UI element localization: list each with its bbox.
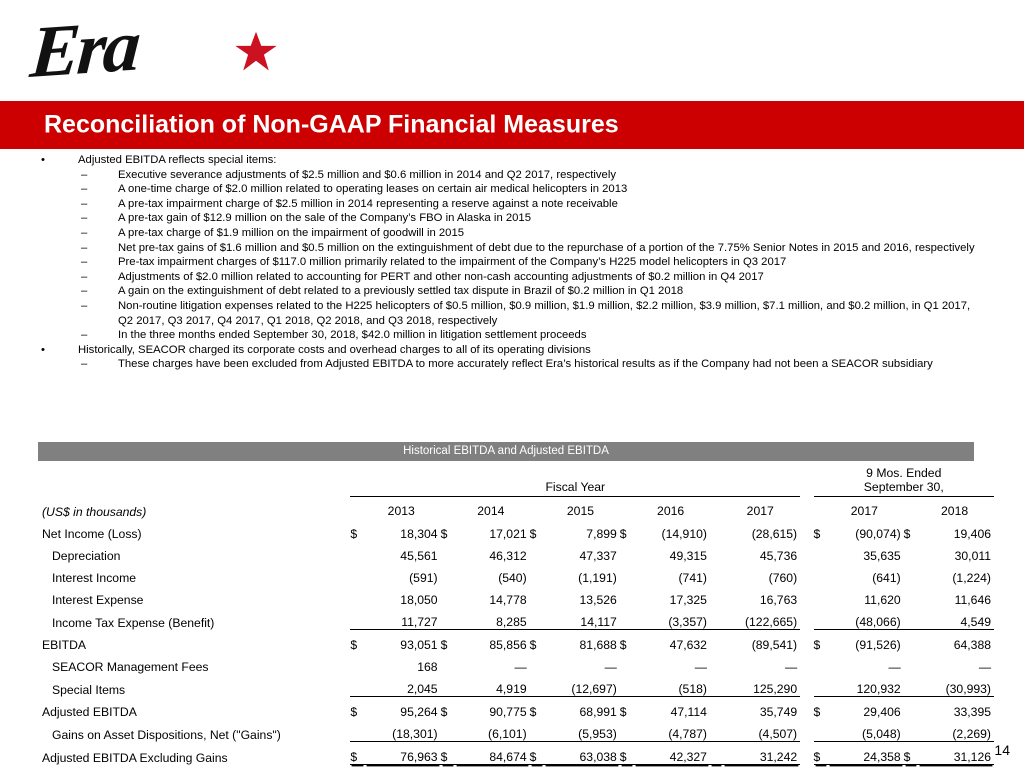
currency-symbol [814,541,828,563]
currency-symbol [620,674,634,697]
bullet-text: Adjusted EBITDA reflects special items: [78,153,988,168]
logo-wordmark: Era [28,9,140,90]
cell-value: 35,749 [723,697,800,720]
table-row: SEACOR Management Fees168—————— [38,652,994,674]
cell-value: 30,011 [918,541,994,563]
table-row: Interest Income(591)(540)(1,191)(741)(76… [38,563,994,585]
currency-symbol [710,697,723,720]
cell-value: (14,910) [634,519,710,541]
bullet-item: –A pre-tax charge of $1.9 million on the… [0,226,1024,241]
bullet-item: –In the three months ended September 30,… [0,328,1024,343]
cell-value: 4,549 [918,607,994,630]
table-row: EBITDA$93,051$85,856$81,688$47,632(89,54… [38,630,994,653]
cell-value: 125,290 [723,674,800,697]
cell-value: (28,615) [723,519,800,541]
currency-symbol [620,585,634,607]
bullet-text: These charges have been excluded from Ad… [118,357,988,372]
cell-value: (12,697) [544,674,620,697]
cell-value: (540) [455,563,530,585]
currency-symbol [814,563,828,585]
bullet-item: –A one-time charge of $2.0 million relat… [0,182,1024,197]
currency-symbol [710,742,723,765]
bullet-item: –A pre-tax gain of $12.9 million on the … [0,211,1024,226]
bullet-marker: – [81,284,101,299]
cell-value: 168 [365,652,441,674]
currency-symbol [904,563,918,585]
cell-value: 11,620 [828,585,904,607]
currency-symbol: $ [441,519,455,541]
currency-symbol: $ [814,697,828,720]
column-gap [800,519,813,541]
cell-value: (1,191) [544,563,620,585]
currency-symbol [350,719,364,742]
currency-symbol: $ [350,630,364,653]
bullet-text: Net pre-tax gains of $1.6 million and $0… [118,241,988,256]
currency-head-nine-2017 [814,497,828,520]
year-header-2015: 2015 [544,497,620,520]
cell-value: 49,315 [634,541,710,563]
currency-symbol: $ [350,697,364,720]
page-number: 14 [994,742,1010,758]
currency-symbol [904,585,918,607]
column-gap [800,585,813,607]
year-header-nine-2017: 2017 [828,497,904,520]
currency-symbol [350,541,364,563]
row-label: Special Items [38,674,350,697]
cell-value: (4,787) [634,719,710,742]
bullet-text: In the three months ended September 30, … [118,328,988,343]
currency-symbol [710,652,723,674]
currency-symbol [620,607,634,630]
column-gap [800,630,813,653]
row-label: EBITDA [38,630,350,653]
nine-months-line2: September 30, [864,480,944,494]
table-row: Gains on Asset Dispositions, Net ("Gains… [38,719,994,742]
currency-symbol [441,719,455,742]
currency-symbol: $ [530,742,544,765]
currency-symbol [710,585,723,607]
currency-symbol [530,652,544,674]
currency-symbol [710,519,723,541]
currency-symbol: $ [814,519,828,541]
bullet-item: –Adjustments of $2.0 million related to … [0,270,1024,285]
table-row: Income Tax Expense (Benefit)11,7278,2851… [38,607,994,630]
currency-head-2017 [710,497,723,520]
cell-value: (1,224) [918,563,994,585]
year-header-2014: 2014 [455,497,530,520]
cell-value: (6,101) [455,719,530,742]
currency-head-2013 [350,497,364,520]
currency-symbol: $ [620,519,634,541]
cell-value: (89,541) [723,630,800,653]
currency-symbol [814,652,828,674]
currency-symbol [441,607,455,630]
currency-symbol: $ [620,742,634,765]
cell-value: 47,337 [544,541,620,563]
bullet-text: Non-routine litigation expenses related … [118,299,988,328]
cell-value: (2,269) [918,719,994,742]
bullet-text: A one-time charge of $2.0 million relate… [118,182,988,197]
cell-value: (91,526) [828,630,904,653]
cell-value: (518) [634,674,710,697]
bullet-item: –A pre-tax impairment charge of $2.5 mil… [0,197,1024,212]
column-gap [800,742,813,765]
bullet-item: –Executive severance adjustments of $2.5… [0,168,1024,183]
page-title: Reconciliation of Non-GAAP Financial Mea… [44,111,619,140]
row-label: Income Tax Expense (Benefit) [38,607,350,630]
currency-symbol [710,563,723,585]
bullet-marker: – [81,357,101,372]
bullet-marker: • [41,153,61,168]
cell-value: 29,406 [828,697,904,720]
cell-value: 47,632 [634,630,710,653]
column-gap [800,541,813,563]
bullet-text: Pre-tax impairment charges of $117.0 mil… [118,255,988,270]
cell-value: — [455,652,530,674]
currency-symbol [441,652,455,674]
group-header-fiscal-year: Fiscal Year [350,466,800,497]
table-row: Interest Expense18,05014,77813,52617,325… [38,585,994,607]
currency-symbol [350,607,364,630]
table-body: Net Income (Loss)$18,304$17,021$7,899$(1… [38,519,994,765]
cell-value: — [544,652,620,674]
cell-value: 68,991 [544,697,620,720]
cell-value: 19,406 [918,519,994,541]
currency-symbol: $ [530,697,544,720]
row-label: Adjusted EBITDA Excluding Gains [38,742,350,765]
cell-value: 64,388 [918,630,994,653]
currency-head-2014 [441,497,455,520]
column-gap [800,719,813,742]
cell-value: (90,074) [828,519,904,541]
row-label: Net Income (Loss) [38,519,350,541]
cell-value: (48,066) [828,607,904,630]
currency-symbol: $ [350,519,364,541]
currency-symbol [904,607,918,630]
bullet-item: –Net pre-tax gains of $1.6 million and $… [0,241,1024,256]
cell-value: 17,021 [455,519,530,541]
currency-symbol: $ [441,742,455,765]
bullet-marker: – [81,168,101,183]
cell-value: 63,038 [544,742,620,765]
currency-symbol: $ [530,630,544,653]
era-logo: Era [28,14,288,98]
cell-value: 14,778 [455,585,530,607]
currency-symbol [710,541,723,563]
currency-symbol [350,585,364,607]
bullet-item: –Non-routine litigation expenses related… [0,299,1024,328]
cell-value: (18,301) [365,719,441,742]
cell-value: 90,775 [455,697,530,720]
currency-symbol: $ [814,742,828,765]
currency-symbol: $ [530,519,544,541]
ebitda-table: Fiscal Year 9 Mos. Ended September 30, (… [38,466,994,765]
cell-value: 76,963 [365,742,441,765]
bullet-marker: – [81,328,101,343]
cell-value: — [828,652,904,674]
cell-value: (3,357) [634,607,710,630]
cell-value: 120,932 [828,674,904,697]
currency-symbol [620,719,634,742]
bullet-marker: – [81,241,101,256]
currency-symbol [441,563,455,585]
bullet-marker: – [81,211,101,226]
bullet-text: A pre-tax impairment charge of $2.5 mill… [118,197,988,212]
currency-symbol [350,652,364,674]
year-header-2017: 2017 [723,497,800,520]
year-header-nine-2018: 2018 [918,497,994,520]
cell-value: (741) [634,563,710,585]
cell-value: (5,048) [828,719,904,742]
column-gap [800,497,813,520]
currency-head-nine-2018 [904,497,918,520]
cell-value: 7,899 [544,519,620,541]
year-header-2016: 2016 [634,497,710,520]
bullet-marker: – [81,270,101,285]
cell-value: (122,665) [723,607,800,630]
bullet-marker: – [81,299,101,314]
bullet-text: A gain on the extinguishment of debt rel… [118,284,988,299]
currency-symbol: $ [441,630,455,653]
row-label: Interest Expense [38,585,350,607]
cell-value: 2,045 [365,674,441,697]
currency-symbol: $ [441,697,455,720]
cell-value: 47,114 [634,697,710,720]
bullet-marker: – [81,255,101,270]
year-header-2013: 2013 [365,497,441,520]
bullet-marker: • [41,343,61,358]
cell-value: 42,327 [634,742,710,765]
cell-value: 45,736 [723,541,800,563]
cell-value: 18,304 [365,519,441,541]
cell-value: 14,117 [544,607,620,630]
row-label: Gains on Asset Dispositions, Net ("Gains… [38,719,350,742]
column-gap [800,674,813,697]
currency-symbol [620,652,634,674]
bullet-text: Historically, SEACOR charged its corpora… [78,343,988,358]
table-row: Net Income (Loss)$18,304$17,021$7,899$(1… [38,519,994,541]
cell-value: 18,050 [365,585,441,607]
bullet-marker: – [81,226,101,241]
cell-value: — [723,652,800,674]
cell-value: 81,688 [544,630,620,653]
cell-value: (30,993) [918,674,994,697]
currency-symbol [904,697,918,720]
cell-value: 8,285 [455,607,530,630]
cell-value: 13,526 [544,585,620,607]
bullet-text: Adjustments of $2.0 million related to a… [118,270,988,285]
bullet-item: •Historically, SEACOR charged its corpor… [0,343,1024,358]
cell-value: (591) [365,563,441,585]
currency-symbol [814,607,828,630]
currency-symbol [530,585,544,607]
bullet-list: •Adjusted EBITDA reflects special items:… [0,153,1024,372]
bullet-text: A pre-tax gain of $12.9 million on the s… [118,211,988,226]
cell-value: 95,264 [365,697,441,720]
table-row: Special Items2,0454,919(12,697)(518)125,… [38,674,994,697]
table-row: Depreciation45,56146,31247,33749,31545,7… [38,541,994,563]
table-row: Adjusted EBITDA$95,264$90,775$68,991$47,… [38,697,994,720]
table-year-header-row: (US$ in thousands) 2013 2014 2015 2016 2… [38,497,994,520]
currency-symbol [350,674,364,697]
currency-symbol: $ [904,519,918,541]
currency-symbol [530,674,544,697]
currency-symbol [441,585,455,607]
bullet-item: –Pre-tax impairment charges of $117.0 mi… [0,255,1024,270]
table-row: Adjusted EBITDA Excluding Gains$76,963$8… [38,742,994,765]
cell-value: (5,953) [544,719,620,742]
currency-symbol: $ [620,697,634,720]
currency-symbol [620,563,634,585]
units-label: (US$ in thousands) [38,497,350,520]
row-label: Adjusted EBITDA [38,697,350,720]
column-gap [800,563,813,585]
group-header-nine-months: 9 Mos. Ended September 30, [814,466,994,497]
cell-value: 31,126 [918,742,994,765]
currency-symbol [710,719,723,742]
column-gap [800,652,813,674]
currency-head-2016 [620,497,634,520]
column-gap [800,697,813,720]
row-label: Depreciation [38,541,350,563]
currency-symbol [441,674,455,697]
cell-value: 17,325 [634,585,710,607]
currency-symbol [904,674,918,697]
column-gap [800,607,813,630]
currency-symbol [530,719,544,742]
currency-symbol [814,674,828,697]
bullet-item: –These charges have been excluded from A… [0,357,1024,372]
currency-symbol [904,541,918,563]
cell-value: 31,242 [723,742,800,765]
currency-symbol: $ [620,630,634,653]
cell-value: 11,727 [365,607,441,630]
cell-value: 84,674 [455,742,530,765]
cell-value: (641) [828,563,904,585]
currency-symbol: $ [904,742,918,765]
cell-value: 16,763 [723,585,800,607]
table-group-header-row: Fiscal Year 9 Mos. Ended September 30, [38,466,994,497]
cell-value: 93,051 [365,630,441,653]
currency-symbol: $ [350,742,364,765]
slide-title-bar: Reconciliation of Non-GAAP Financial Mea… [0,101,1024,149]
section-banner: Historical EBITDA and Adjusted EBITDA [38,442,974,461]
cell-value: (4,507) [723,719,800,742]
cell-value: 4,919 [455,674,530,697]
currency-symbol [710,607,723,630]
cell-value: 46,312 [455,541,530,563]
currency-symbol [904,719,918,742]
currency-symbol [530,607,544,630]
cell-value: — [634,652,710,674]
currency-symbol [814,719,828,742]
currency-symbol [530,563,544,585]
bullet-marker: – [81,197,101,212]
cell-value: 24,358 [828,742,904,765]
row-label: Interest Income [38,563,350,585]
cell-value: 11,646 [918,585,994,607]
currency-symbol [350,563,364,585]
currency-symbol [904,652,918,674]
cell-value: 85,856 [455,630,530,653]
bullet-item: –A gain on the extinguishment of debt re… [0,284,1024,299]
cell-value: 45,561 [365,541,441,563]
row-label: SEACOR Management Fees [38,652,350,674]
bullet-item: •Adjusted EBITDA reflects special items: [0,153,1024,168]
cell-value: — [918,652,994,674]
column-gap [800,466,813,497]
currency-symbol [530,541,544,563]
spacer-cell [38,466,350,497]
currency-symbol [441,541,455,563]
currency-symbol: $ [814,630,828,653]
cell-value: 33,395 [918,697,994,720]
cell-value: 35,635 [828,541,904,563]
bullet-marker: – [81,182,101,197]
nine-months-line1: 9 Mos. Ended [866,466,941,480]
currency-symbol [904,630,918,653]
currency-symbol [620,541,634,563]
star-icon [234,30,278,74]
currency-head-2015 [530,497,544,520]
bullet-text: A pre-tax charge of $1.9 million on the … [118,226,988,241]
bullet-text: Executive severance adjustments of $2.5 … [118,168,988,183]
currency-symbol [710,674,723,697]
currency-symbol [814,585,828,607]
currency-symbol [710,630,723,653]
cell-value: (760) [723,563,800,585]
